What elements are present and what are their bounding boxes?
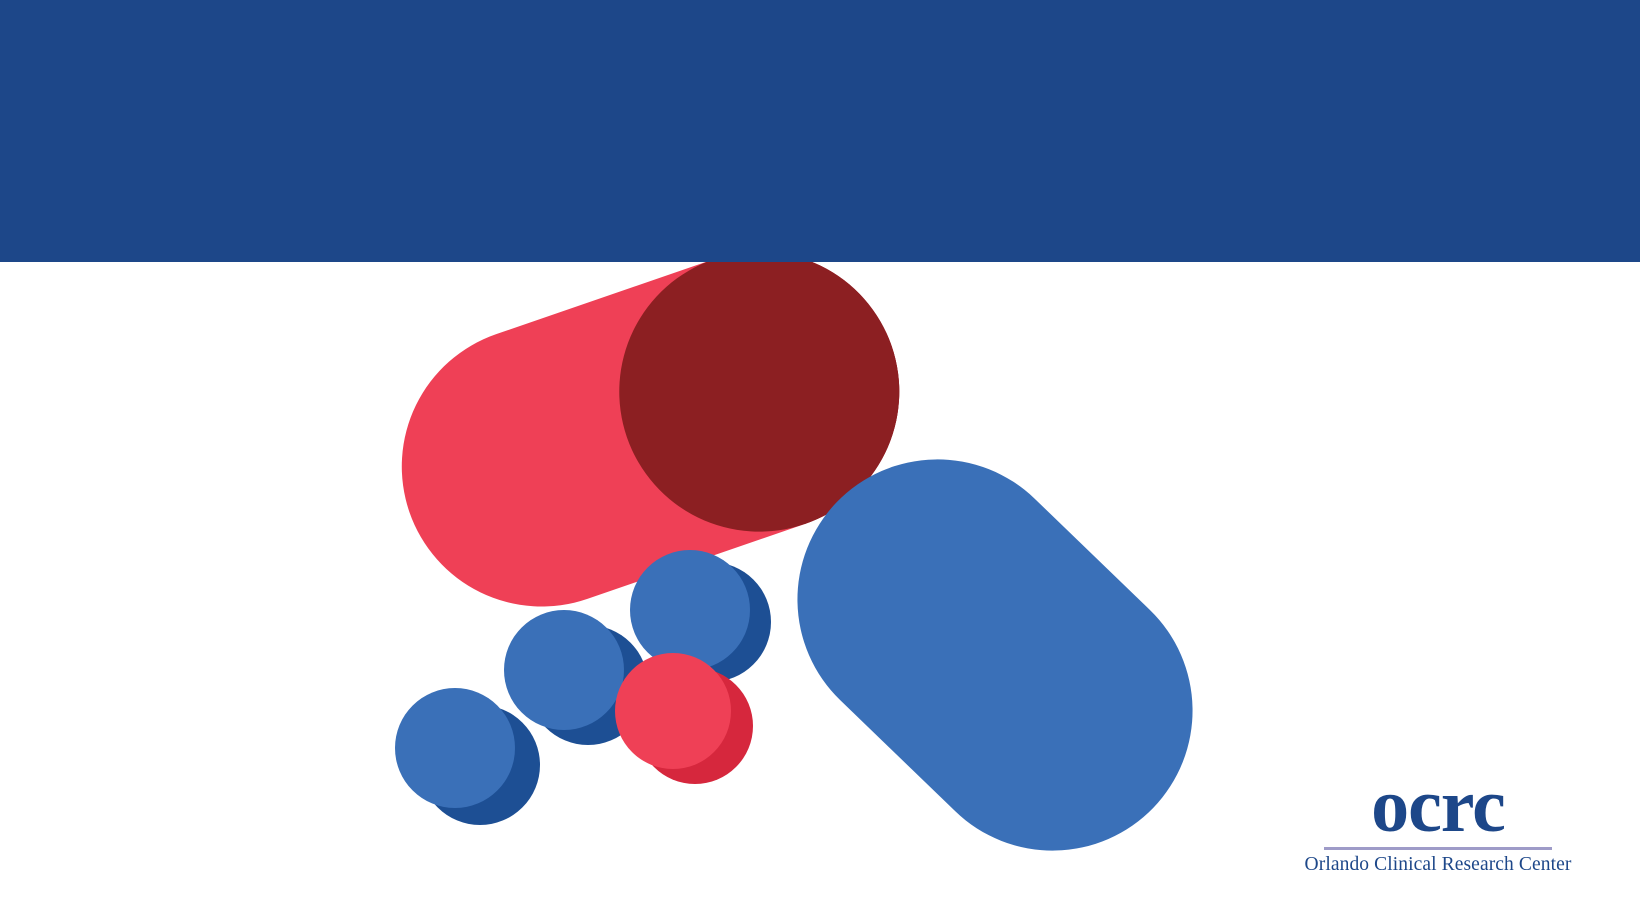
red-tablet-1-face [615,653,731,769]
blue-tablet-2-face [504,610,624,730]
blue-tablet-1-face [630,550,750,670]
ocrc-logo: ocrc Orlando Clinical Research Center [1268,770,1608,876]
logo-wordmark: ocrc [1268,770,1608,842]
slide-canvas: WHAT IS THE PLACEBO EFFECT? ocrc Orlando… [0,0,1640,924]
logo-tagline: Orlando Clinical Research Center [1268,854,1608,876]
header-band [0,0,1640,262]
blue-tablet-3-face [395,688,515,808]
